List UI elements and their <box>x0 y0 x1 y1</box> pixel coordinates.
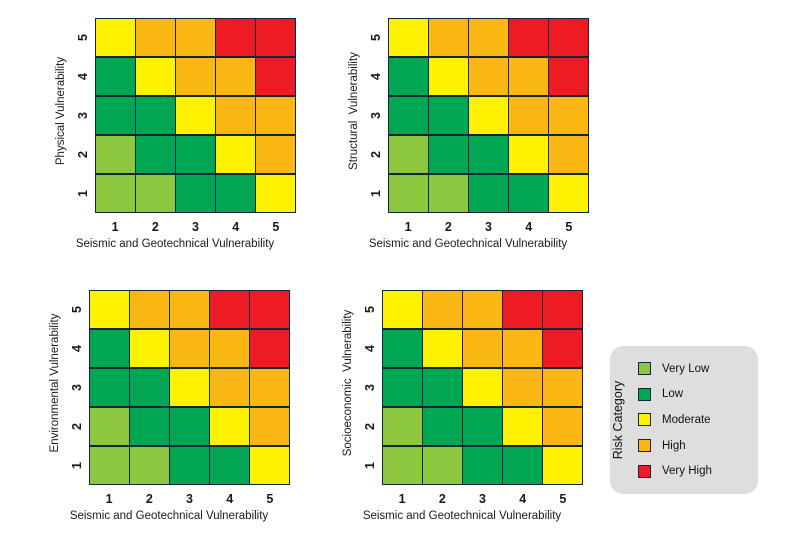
risk-matrix-cell <box>90 369 129 406</box>
legend-swatch <box>638 388 651 401</box>
risk-matrix-cell <box>543 408 582 445</box>
risk-matrix-cell <box>389 97 428 134</box>
legend-item: Low <box>638 382 754 408</box>
legend-label: Very Low <box>662 363 709 375</box>
risk-matrix-cell <box>463 408 502 445</box>
risk-matrix-cell <box>503 369 542 406</box>
legend-item: Very High <box>638 458 754 484</box>
x-axis-tick: 3 <box>169 489 209 509</box>
risk-matrix-cell <box>389 19 428 56</box>
risk-matrix-cell <box>90 330 129 367</box>
risk-matrix-cell <box>429 19 468 56</box>
risk-matrix-cell <box>423 408 462 445</box>
x-axis-ticks: 12345 <box>382 489 583 509</box>
risk-matrix-cell <box>549 175 588 212</box>
risk-matrix-cell <box>216 136 255 173</box>
risk-matrix-cell <box>250 408 289 445</box>
risk-matrix-cell <box>210 291 249 328</box>
risk-matrix-grid <box>95 18 296 213</box>
y-axis-tick: 2 <box>367 135 385 174</box>
risk-matrix-cell <box>176 97 215 134</box>
risk-matrix-cell <box>423 447 462 484</box>
x-axis-label: Seismic and Geotechnical Vulnerability <box>46 238 304 250</box>
x-axis-ticks: 12345 <box>388 217 589 237</box>
risk-matrix-cell <box>250 369 289 406</box>
x-axis-tick: 3 <box>462 489 502 509</box>
risk-matrix-cell <box>176 19 215 56</box>
risk-matrix-cell <box>549 19 588 56</box>
risk-matrix-cell <box>210 447 249 484</box>
legend-item: High <box>638 433 754 459</box>
risk-category-legend: Risk Category Very LowLowModerateHighVer… <box>610 346 758 494</box>
legend-item: Moderate <box>638 407 754 433</box>
risk-matrix-cell <box>170 291 209 328</box>
risk-matrix-cell <box>96 19 135 56</box>
risk-matrix-cell <box>549 58 588 95</box>
risk-matrix-cell <box>96 58 135 95</box>
risk-matrix-cell <box>256 175 295 212</box>
risk-matrix-cell <box>210 369 249 406</box>
y-axis-ticks: 54321 <box>361 290 379 485</box>
risk-matrix-cell <box>509 58 548 95</box>
risk-matrix-cell <box>256 19 295 56</box>
x-axis-label: Seismic and Geotechnical Vulnerability <box>339 238 597 250</box>
legend-swatch <box>638 413 651 426</box>
risk-matrix-cell <box>543 291 582 328</box>
risk-matrix-cell <box>170 369 209 406</box>
risk-matrix-cell <box>503 291 542 328</box>
x-axis-tick: 5 <box>256 217 296 237</box>
x-axis-tick: 3 <box>175 217 215 237</box>
risk-matrix-cell <box>170 408 209 445</box>
risk-matrix-cell <box>509 97 548 134</box>
y-axis-tick: 5 <box>367 18 385 57</box>
risk-matrix-cell <box>170 330 209 367</box>
x-axis-tick: 2 <box>422 489 462 509</box>
x-axis-tick: 3 <box>468 217 508 237</box>
risk-matrix-cell <box>256 136 295 173</box>
x-axis-tick: 2 <box>428 217 468 237</box>
y-axis-tick: 3 <box>74 96 92 135</box>
x-axis-tick: 1 <box>382 489 422 509</box>
risk-matrix-cell <box>543 447 582 484</box>
risk-matrix-cell <box>469 175 508 212</box>
risk-matrix-cell <box>509 136 548 173</box>
risk-matrix-cell <box>503 447 542 484</box>
risk-matrix-cell <box>96 175 135 212</box>
risk-matrix-cell <box>216 19 255 56</box>
risk-matrix-cell <box>130 330 169 367</box>
legend-label: Very High <box>662 465 712 477</box>
risk-matrix-cell <box>463 291 502 328</box>
risk-matrix-cell <box>423 291 462 328</box>
risk-matrix-cell <box>170 447 209 484</box>
risk-matrix-cell <box>543 369 582 406</box>
risk-matrix-cell <box>463 369 502 406</box>
y-axis-ticks: 54321 <box>367 18 385 213</box>
risk-matrix-cell <box>503 330 542 367</box>
risk-matrix-cell <box>429 136 468 173</box>
risk-matrix-cell <box>383 408 422 445</box>
legend-label: High <box>662 440 686 452</box>
risk-matrix-cell <box>423 369 462 406</box>
x-axis-tick: 5 <box>543 489 583 509</box>
risk-matrix-cell <box>383 330 422 367</box>
risk-matrix-cell <box>463 330 502 367</box>
risk-matrix-cell <box>469 19 508 56</box>
y-axis-tick: 2 <box>74 135 92 174</box>
x-axis-tick: 1 <box>95 217 135 237</box>
legend-title: Risk Category <box>610 346 627 494</box>
legend-swatch <box>638 362 651 375</box>
risk-matrix-cell <box>90 291 129 328</box>
risk-matrix-cell <box>543 330 582 367</box>
y-axis-tick: 5 <box>68 290 86 329</box>
y-axis-tick: 2 <box>68 407 86 446</box>
legend-swatch <box>638 465 651 478</box>
risk-matrix-cell <box>90 447 129 484</box>
y-axis-tick: 2 <box>361 407 379 446</box>
risk-matrix-grid <box>89 290 290 485</box>
risk-matrix-cell <box>90 408 129 445</box>
x-axis-tick: 5 <box>250 489 290 509</box>
risk-matrix-cell <box>130 447 169 484</box>
risk-matrix-cell <box>130 369 169 406</box>
risk-matrix-cell <box>250 447 289 484</box>
risk-matrix-cell <box>96 97 135 134</box>
risk-matrix-cell <box>176 175 215 212</box>
y-axis-tick: 5 <box>361 290 379 329</box>
risk-matrix-cell <box>210 330 249 367</box>
risk-matrix-cell <box>549 136 588 173</box>
x-axis-tick: 1 <box>89 489 129 509</box>
risk-matrix-cell <box>256 58 295 95</box>
x-axis-tick: 2 <box>129 489 169 509</box>
risk-matrix-cell <box>389 58 428 95</box>
risk-matrix-cell <box>429 58 468 95</box>
risk-matrix-cell <box>136 136 175 173</box>
y-axis-tick: 4 <box>74 57 92 96</box>
risk-matrix-cell <box>383 291 422 328</box>
x-axis-label: Seismic and Geotechnical Vulnerability <box>40 510 298 522</box>
y-axis-tick: 1 <box>74 174 92 213</box>
x-axis-tick: 2 <box>135 217 175 237</box>
y-axis-ticks: 54321 <box>68 290 86 485</box>
risk-matrix-cell <box>130 291 169 328</box>
risk-matrix-cell <box>256 97 295 134</box>
risk-matrix-cell <box>469 136 508 173</box>
risk-matrix-cell <box>96 136 135 173</box>
y-axis-tick: 3 <box>367 96 385 135</box>
x-axis-tick: 1 <box>388 217 428 237</box>
risk-matrix-cell <box>176 58 215 95</box>
y-axis-tick: 1 <box>361 446 379 485</box>
legend-items: Very LowLowModerateHighVery High <box>638 356 754 484</box>
risk-matrix-cell <box>389 175 428 212</box>
risk-matrix-grid <box>388 18 589 213</box>
x-axis-tick: 4 <box>503 489 543 509</box>
risk-matrix-cell <box>136 19 175 56</box>
risk-matrix-cell <box>130 408 169 445</box>
risk-matrix-cell <box>216 175 255 212</box>
risk-matrix-cell <box>136 175 175 212</box>
x-axis-ticks: 12345 <box>89 489 290 509</box>
risk-matrix-cell <box>216 58 255 95</box>
risk-matrix-cell <box>136 97 175 134</box>
risk-matrix-cell <box>429 175 468 212</box>
risk-matrix-cell <box>423 330 462 367</box>
risk-matrix-cell <box>503 408 542 445</box>
y-axis-tick: 1 <box>68 446 86 485</box>
risk-matrix-cell <box>250 291 289 328</box>
legend-item: Very Low <box>638 356 754 382</box>
risk-matrix-cell <box>216 97 255 134</box>
x-axis-tick: 4 <box>509 217 549 237</box>
x-axis-tick: 5 <box>549 217 589 237</box>
y-axis-tick: 4 <box>68 329 86 368</box>
risk-matrix-cell <box>463 447 502 484</box>
risk-matrix-cell <box>250 330 289 367</box>
risk-matrix-cell <box>383 369 422 406</box>
risk-matrix-cell <box>429 97 468 134</box>
y-axis-tick: 3 <box>361 368 379 407</box>
risk-matrix-cell <box>176 136 215 173</box>
risk-matrix-cell <box>389 136 428 173</box>
risk-matrix-cell <box>383 447 422 484</box>
x-axis-ticks: 12345 <box>95 217 296 237</box>
legend-label: Low <box>662 388 683 400</box>
x-axis-label: Seismic and Geotechnical Vulnerability <box>333 510 591 522</box>
x-axis-tick: 4 <box>210 489 250 509</box>
legend-swatch <box>638 439 651 452</box>
legend-label: Moderate <box>662 414 711 426</box>
risk-matrix-cell <box>469 58 508 95</box>
risk-matrix-cell <box>469 97 508 134</box>
y-axis-tick: 5 <box>74 18 92 57</box>
x-axis-tick: 4 <box>216 217 256 237</box>
risk-matrix-cell <box>509 19 548 56</box>
y-axis-tick: 4 <box>367 57 385 96</box>
y-axis-tick: 4 <box>361 329 379 368</box>
risk-matrix-cell <box>136 58 175 95</box>
y-axis-ticks: 54321 <box>74 18 92 213</box>
y-axis-tick: 1 <box>367 174 385 213</box>
y-axis-tick: 3 <box>68 368 86 407</box>
risk-matrix-cell <box>509 175 548 212</box>
risk-matrix-grid <box>382 290 583 485</box>
risk-matrix-cell <box>210 408 249 445</box>
risk-matrix-cell <box>549 97 588 134</box>
